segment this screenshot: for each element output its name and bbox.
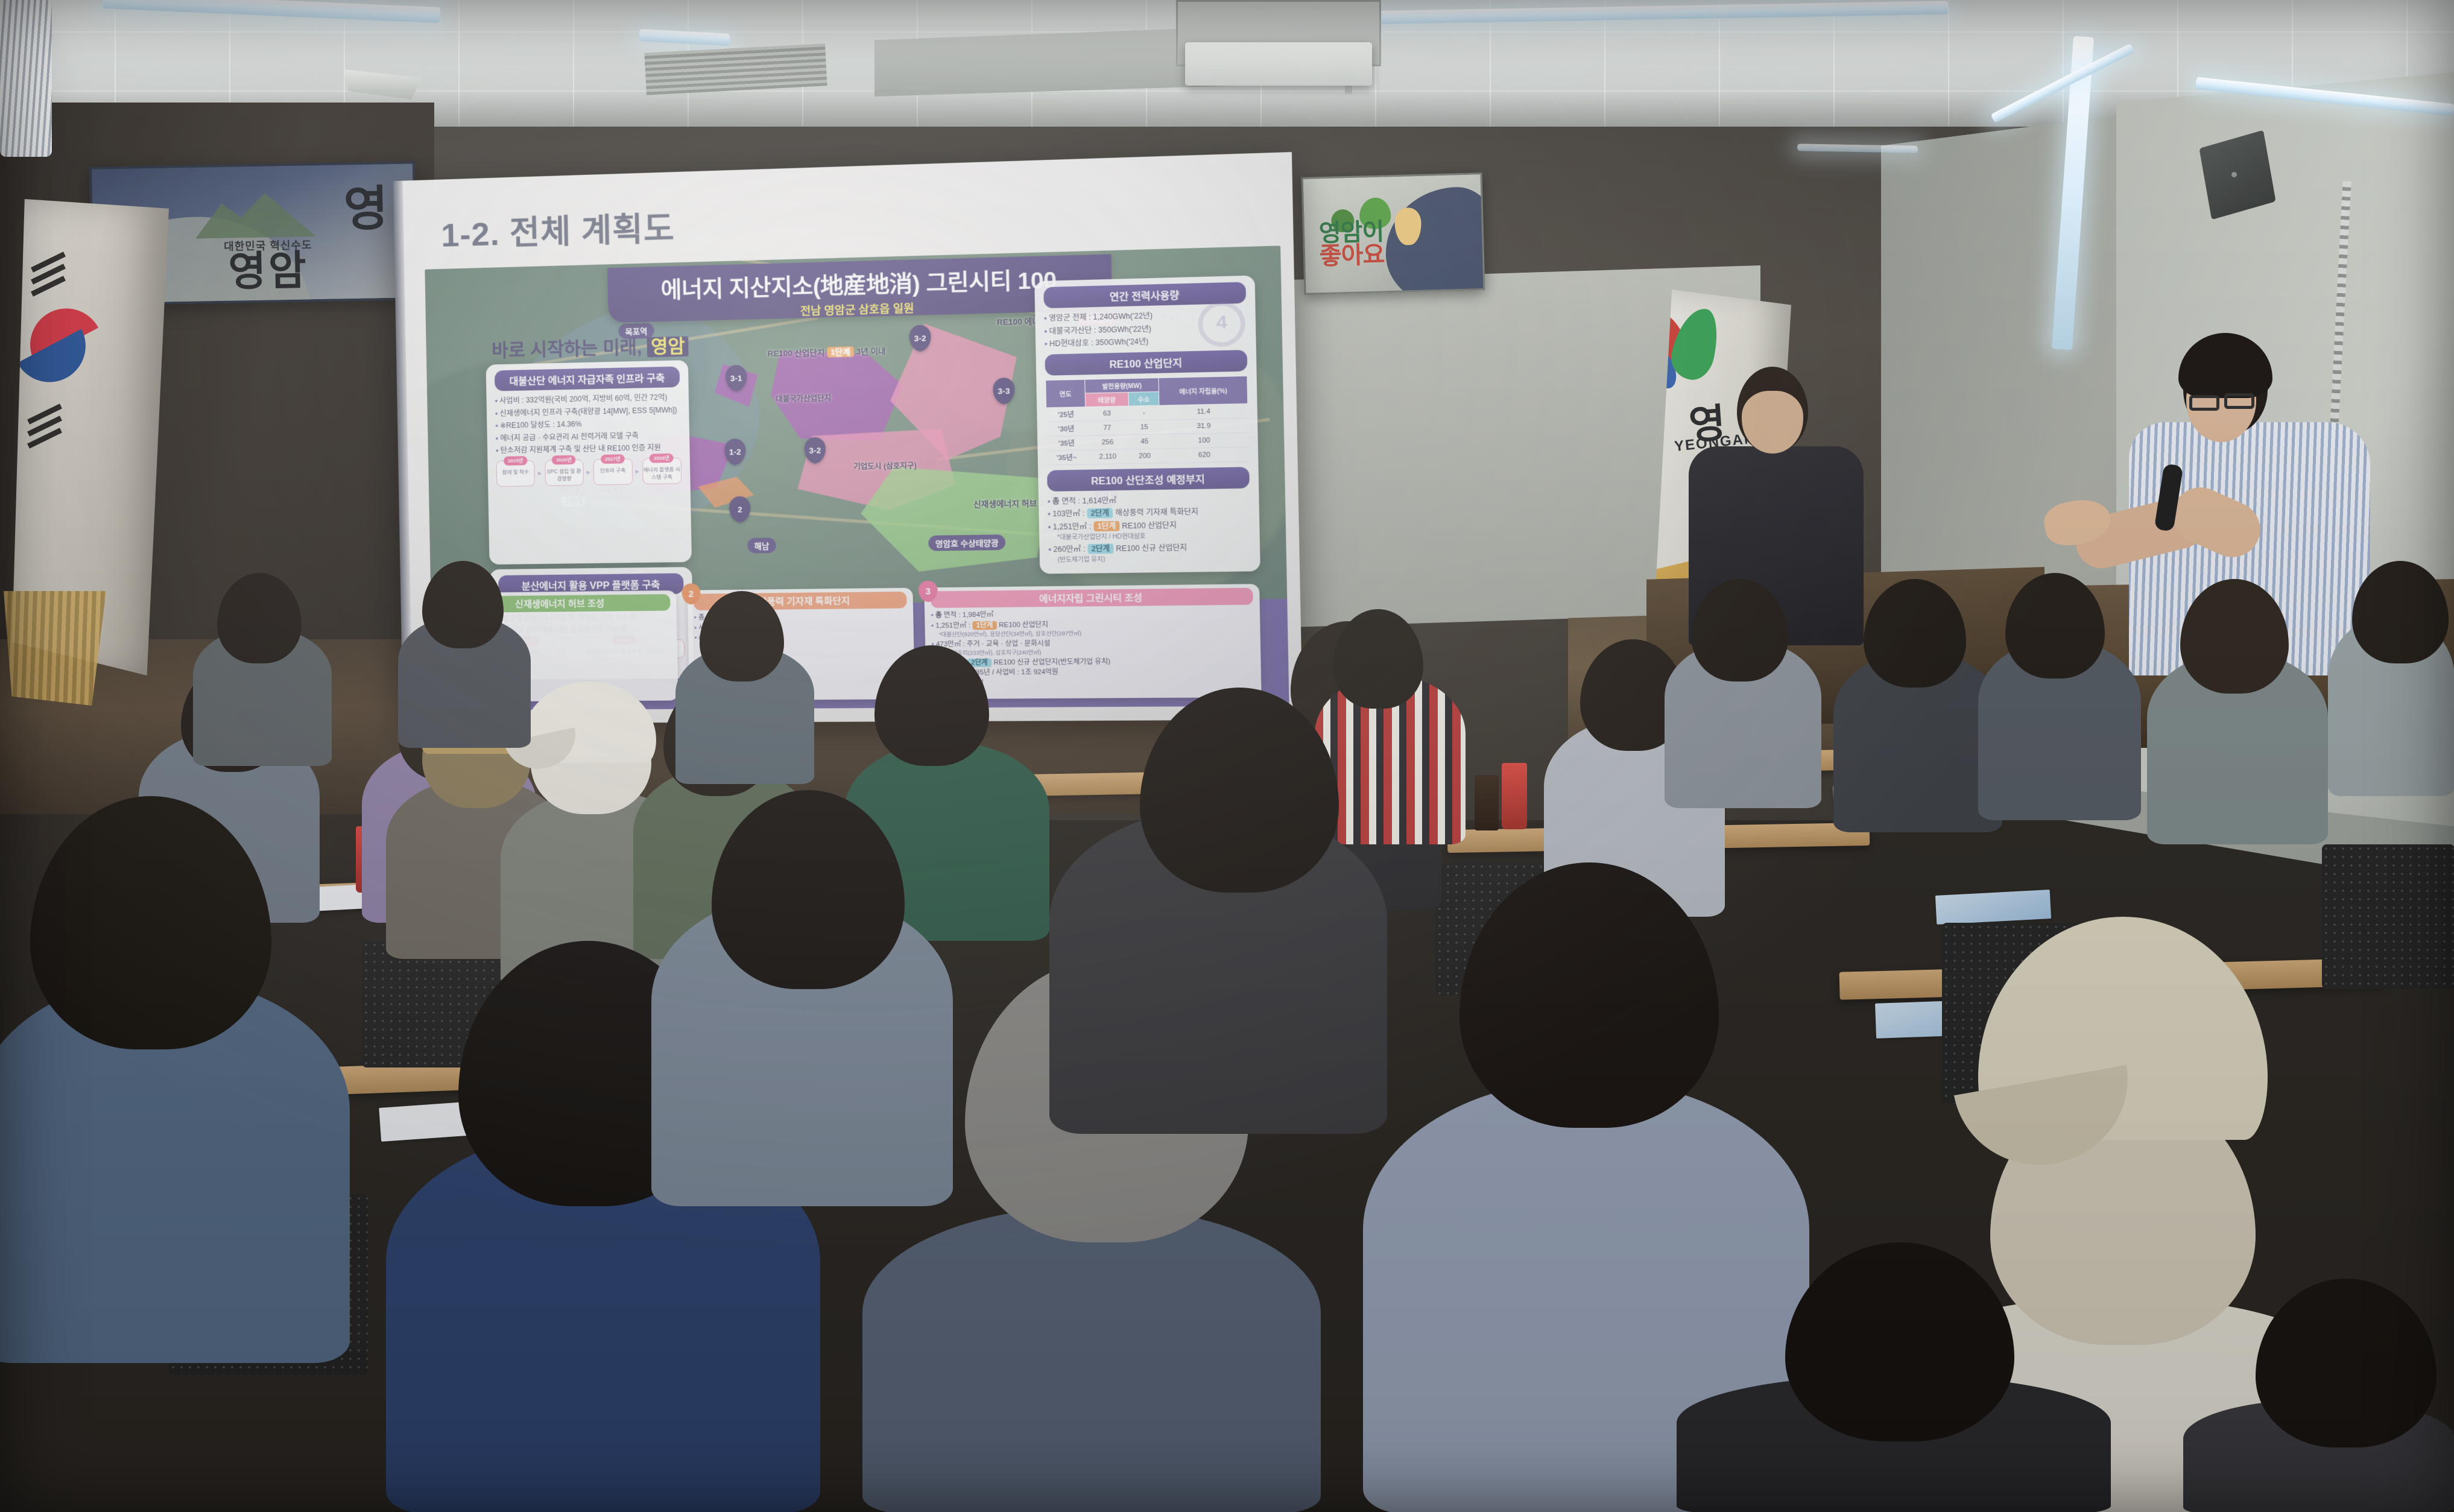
map-label-haenam: 해남 (747, 537, 776, 553)
timeline-step-year: 2025년 (504, 456, 528, 466)
speaker-driver-icon (2231, 172, 2237, 177)
cell-solar: 77 (1086, 420, 1129, 435)
speaker-shirt (0, 0, 52, 157)
cell-hydrogen: - (1128, 405, 1160, 420)
col-group-capacity: 발전용량(MW) (1085, 378, 1159, 393)
site-area: 103만㎡ (1052, 509, 1080, 518)
cell-year: '30년 (1046, 421, 1086, 436)
drink-glass (1475, 775, 1499, 830)
banner-left-title: 영암 (184, 249, 353, 293)
col-self-rate: 에너지 자립율(%) (1159, 376, 1247, 405)
flag-mark-green-icon (1667, 304, 1723, 384)
cell-solar: 2,110 (1086, 449, 1130, 464)
cell-self-rate: 11.4 (1159, 403, 1248, 420)
panel-stats: 연간 전력사용량 영암군 전체 : 1,240GWh('22년) 대불국가산단 … (1034, 276, 1260, 574)
timeline-step-label: 에너지 플랫폼 시스템 구축 (644, 466, 680, 480)
panel-site-bullets: 총 면적 : 1,614만㎡ 103만㎡ : 2단계 해상풍력 기자재 특화단지… (1048, 493, 1251, 565)
col-year: 연도 (1046, 379, 1086, 408)
banner-right-yeongam: 영암이 좋아요 (1301, 172, 1485, 295)
table-header-row: 연도 발전용량(MW) 에너지 자립율(%) (1046, 376, 1248, 394)
site-badge: 2단계 (1087, 543, 1114, 554)
cell-hydrogen: 45 (1129, 434, 1160, 449)
list-item: 총 면적 : 1,614만㎡ (1048, 493, 1250, 507)
cell-hydrogen: 200 (1129, 449, 1160, 464)
panel-site-title: RE100 산단조성 예정부지 (1047, 467, 1250, 492)
timeline-step-year: 2027년 (601, 454, 625, 464)
timeline-step-label: 인프라 구축 (600, 467, 625, 473)
cell-self-rate: 620 (1160, 447, 1249, 463)
cell-solar: 63 (1086, 406, 1129, 421)
table-row: '35년~ 2,110 200 620 (1047, 447, 1249, 465)
timeline-step: 2028년 에너지 플랫폼 시스템 구축 (642, 458, 682, 485)
banner-right-line2: 좋아요 (1319, 241, 1452, 268)
site-area: 1,251만㎡ (1053, 522, 1087, 531)
chevron-right-icon: ▸ (636, 467, 639, 476)
panel-infra-timeline: 2025년 참여 및 착수 ▸ 2026년 SPC 설립 및 환경영향 ▸ 20… (496, 458, 682, 487)
panel-infra-title: 대불산단 에너지 자급자족 인프라 구축 (495, 366, 680, 391)
col-hydrogen: 수소 (1128, 391, 1160, 406)
site-note: *대불국가산업단지 / HD현대삼호 (1057, 530, 1251, 542)
cell-year: '25년 (1046, 406, 1086, 422)
timeline-step-label: 참여 및 착수 (502, 469, 529, 475)
timeline-step: 2026년 SPC 설립 및 환경영향 (545, 459, 584, 486)
site-area: 260만㎡ (1053, 545, 1081, 554)
map-label-yeongam-lake-solar: 영암호 수상태양광 (928, 534, 1006, 551)
map-annotation-dapul-industrial: 대불국가산업단지 (776, 393, 831, 404)
list-item: 260만㎡ : 2단계 RE100 신규 산업단지 (반도체기업 유치) (1048, 541, 1251, 565)
projection-screen: 1-2. 전체 계획도 1-1 1-2 2 3-1 3-2 3-2 (393, 152, 1303, 724)
timeline-step: 2027년 인프라 구축 (593, 458, 632, 486)
tagline-highlight: 영암 (647, 336, 689, 357)
cell-self-rate: 31.9 (1160, 418, 1248, 434)
cell-hydrogen: 15 (1128, 420, 1160, 435)
site-note: (반도체기업 유치) (1058, 553, 1251, 565)
re100-capacity-table: 연도 발전용량(MW) 에너지 자립율(%) 태양광 수소 '25년 63 (1045, 376, 1249, 466)
eyeglasses-icon (2224, 393, 2254, 409)
cell-self-rate: 100 (1160, 432, 1248, 449)
slide-content-area: 1-1 1-2 2 3-1 3-2 3-2 3-3 전남도청 목포역 해남 영암… (425, 245, 1289, 710)
cell-solar: 256 (1086, 435, 1130, 450)
handout-paper (1935, 890, 2051, 925)
col-solar: 태양광 (1085, 392, 1128, 406)
panel-infra-bullets: 사업비 : 332억원(국비 200억, 지방비 60억, 민간 72억) 신재… (495, 391, 681, 457)
flag-fringe (4, 591, 106, 706)
timeline-step: 2025년 참여 및 착수 (496, 460, 536, 487)
drink-cup (1502, 763, 1527, 829)
cell-year: '35년~ (1047, 450, 1087, 465)
mountain-icon (195, 188, 316, 238)
chevron-right-icon: ▸ (587, 468, 590, 476)
eyeglasses-icon (2189, 395, 2219, 411)
slide-tagline: 바로 시작하는 미래, 영암 (492, 331, 689, 362)
list-item: 1,251만㎡ : 1단계 RE100 산업단지 *대불국가산업단지 / HD현… (1048, 519, 1251, 543)
banner-right-line1: 영암이 (1318, 218, 1452, 245)
map-annotation-enterprise-city: 기업도시 (삼호지구) (853, 460, 917, 472)
banner-left-side-char: 영 (343, 186, 388, 232)
site-badge: 2단계 (1087, 508, 1113, 519)
slide-title: 1-2. 전체 계획도 (441, 201, 675, 256)
list-item: 1,251만㎡ : 1단계 RE100 산업단지 *대불산단(920만㎡), 용… (931, 618, 1254, 639)
panel-infra: 대불산단 에너지 자급자족 인프라 구축 사업비 : 332억원(국비 200억… (486, 360, 692, 565)
ceiling-projector (1185, 42, 1372, 86)
bottom-box-3-title: 에너지자립 그린시티 조성 (931, 588, 1253, 609)
timeline-step-year: 2028년 (650, 454, 674, 463)
site-icon-total: 총 (1052, 497, 1060, 506)
timeline-step-label: SPC 설립 및 환경영향 (547, 468, 581, 482)
conference-room-photo: EPSON 대한민국 혁신수도 영암 영 영암이 좋아요 (0, 0, 2454, 1512)
site-badge: 1단계 (1093, 521, 1120, 531)
chair (2322, 844, 2454, 989)
list-item: 473만㎡ : 주거 · 교육 · 상업 · 문화시설 *난물산호리(233만㎡… (931, 636, 1254, 657)
cell-year: '35년 (1046, 435, 1086, 451)
chevron-right-icon: ▸ (538, 469, 542, 477)
panel-industrial-title: RE100 산업단지 (1045, 350, 1247, 376)
timeline-step-year: 2026년 (552, 455, 576, 465)
list-item: 103만㎡ : 2단계 해상풍력 기자재 특화단지 (1048, 505, 1250, 520)
speaker-at-podium (0, 0, 52, 157)
